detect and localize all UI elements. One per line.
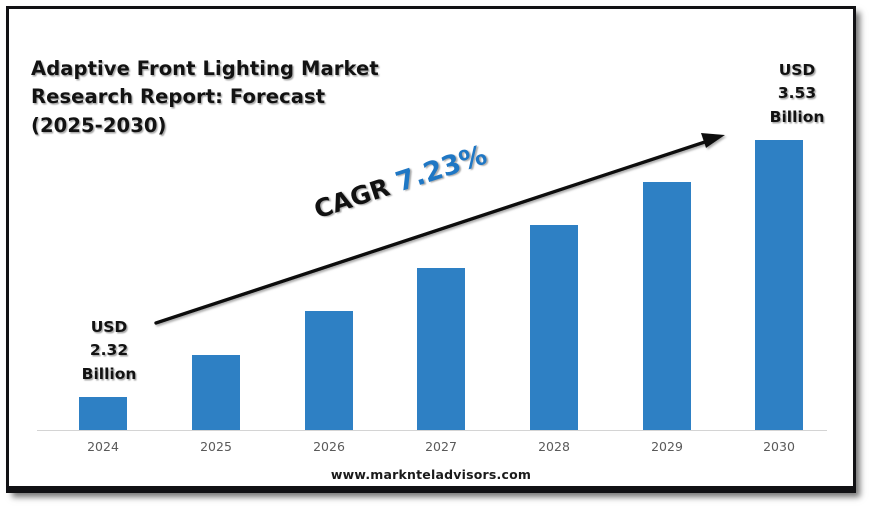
x-tick-label-2026: 2026 <box>284 439 374 454</box>
x-tick-label-2025: 2025 <box>171 439 261 454</box>
bar-2025 <box>192 355 240 430</box>
callout-end-value: USD 3.53 Billion <box>737 59 853 129</box>
bar-2029 <box>643 182 691 430</box>
x-tick-label-2027: 2027 <box>396 439 486 454</box>
callout-start-currency: USD <box>49 316 169 339</box>
cagr-annotation: CAGR 7.23% <box>310 140 491 226</box>
x-tick-label-2028: 2028 <box>509 439 599 454</box>
image-frame: Adaptive Front Lighting Market Research … <box>6 6 856 493</box>
callout-end-unit: Billion <box>737 106 853 129</box>
plot-area: 2024 2025 2026 2027 2028 2029 2030 <box>9 9 853 490</box>
chart-image: Adaptive Front Lighting Market Research … <box>0 0 870 507</box>
bar-2030 <box>755 140 803 430</box>
callout-start-value: USD 2.32 Billion <box>49 316 169 386</box>
source-footer: www.marknteladvisors.com <box>9 467 853 482</box>
footer-rule <box>9 486 853 490</box>
callout-end-currency: USD <box>737 59 853 82</box>
bar-2026 <box>305 311 353 430</box>
growth-arrow-head <box>701 133 725 148</box>
x-tick-label-2029: 2029 <box>622 439 712 454</box>
cagr-value: 7.23% <box>392 140 491 199</box>
callout-start-number: 2.32 <box>49 339 169 362</box>
callout-end-number: 3.53 <box>737 82 853 105</box>
bar-2024 <box>79 397 127 430</box>
x-axis-line <box>37 430 827 431</box>
cagr-label: CAGR <box>310 173 393 225</box>
bar-2027 <box>417 268 465 430</box>
x-tick-label-2024: 2024 <box>58 439 148 454</box>
chart-canvas: Adaptive Front Lighting Market Research … <box>9 9 853 490</box>
x-tick-label-2030: 2030 <box>734 439 824 454</box>
callout-start-unit: Billion <box>49 363 169 386</box>
bar-2028 <box>530 225 578 430</box>
